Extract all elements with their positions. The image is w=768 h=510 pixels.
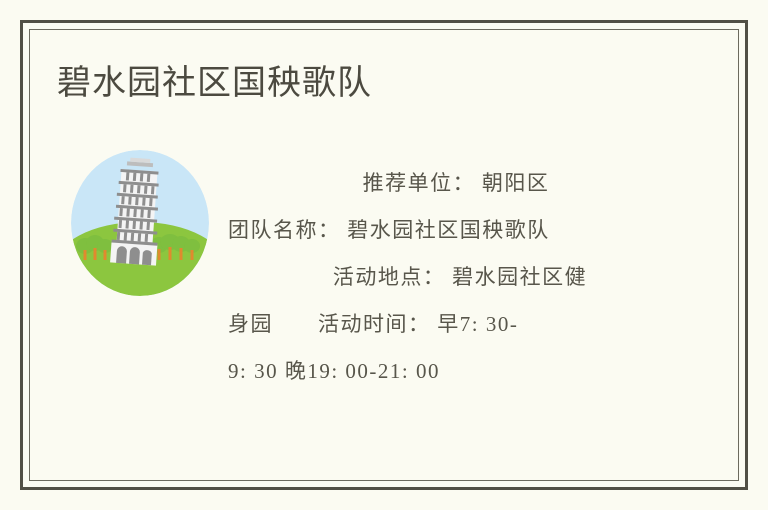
- detail-line-activity-time-cont: 9: 30 晚19: 00-21: 00: [228, 348, 648, 395]
- poster-card: 碧水园社区国秧歌队: [0, 0, 768, 510]
- page-title: 碧水园社区国秧歌队: [57, 62, 372, 104]
- detail-line-activity-place: 活动地点： 碧水园社区健: [228, 254, 648, 301]
- detail-line-activity-time: 身园 活动时间： 早7: 30-: [228, 301, 648, 348]
- detail-line-team-name: 团队名称： 碧水园社区国秧歌队: [228, 207, 648, 254]
- leaning-tower-of-pisa-icon: [71, 150, 209, 296]
- event-details-block: 推荐单位： 朝阳区 团队名称： 碧水园社区国秧歌队 活动地点： 碧水园社区健 身…: [228, 160, 648, 395]
- detail-line-recommending-unit: 推荐单位： 朝阳区: [228, 160, 648, 207]
